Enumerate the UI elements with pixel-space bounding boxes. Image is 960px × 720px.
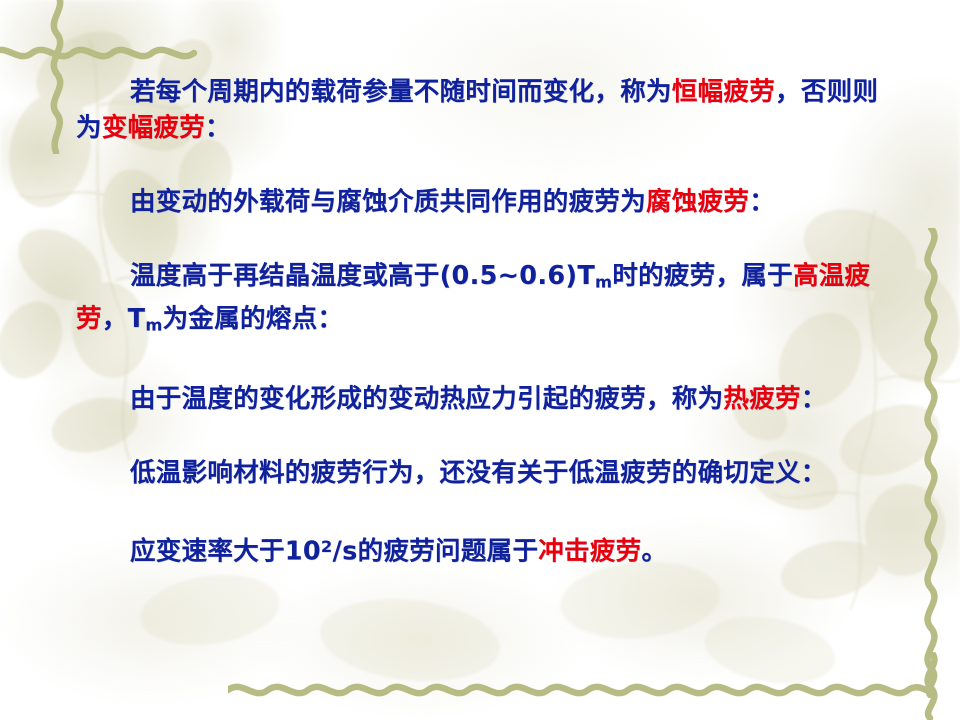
superscript-2: 2: [321, 537, 333, 556]
text-segment: 由于温度的变化形成的变动热应力引起的疲劳，称为: [130, 384, 723, 414]
text-segment: /s的疲劳问题属于: [333, 537, 539, 567]
paragraph-constant-amplitude-fatigue: 若每个周期内的载荷参量不随时间而变化，称为恒幅疲劳，否则则为变幅疲劳：: [76, 74, 904, 146]
decoration-right-vertical-rule: [916, 228, 946, 698]
text-segment: 温度高于再结晶温度或高于(0.5~0.6)T: [130, 261, 595, 291]
text-segment: ：: [801, 384, 827, 414]
slide-canvas: 若每个周期内的载荷参量不随时间而变化，称为恒幅疲劳，否则则为变幅疲劳： 由变动的…: [0, 0, 960, 720]
decoration-top-left-vertical: [42, 0, 72, 154]
paragraph-low-temperature-fatigue: 低温影响材料的疲劳行为，还没有关于低温疲劳的确切定义：: [76, 455, 904, 491]
decoration-bottom-horizontal-rule: [228, 675, 928, 705]
slide-body: 若每个周期内的载荷参量不随时间而变化，称为恒幅疲劳，否则则为变幅疲劳： 由变动的…: [76, 74, 904, 570]
text-segment: 。: [641, 537, 667, 567]
subscript-m: m: [595, 273, 612, 292]
decoration-top-horizontal-rule: [0, 38, 202, 68]
text-segment: 若每个周期内的载荷参量不随时间而变化，称为: [130, 77, 672, 107]
highlight-corrosion-fatigue: 腐蚀疲劳: [646, 187, 749, 217]
text-segment: ：: [205, 113, 231, 143]
subscript-m: m: [145, 315, 162, 334]
text-segment: 由变动的外载荷与腐蚀介质共同作用的疲劳为: [130, 187, 646, 217]
highlight-variable-amplitude-fatigue: 变幅疲劳: [102, 113, 205, 143]
text-segment: 应变速率大于10: [130, 537, 321, 567]
text-segment: 低温影响材料的疲劳行为，还没有关于低温疲劳的确切定义：: [130, 458, 827, 488]
text-segment: ，T: [102, 304, 146, 334]
paragraph-high-temperature-fatigue: 温度高于再结晶温度或高于(0.5~0.6)Tm时的疲劳，属于高温疲劳，Tm为金属…: [76, 258, 904, 343]
text-segment: 时的疲劳，属于: [612, 261, 793, 291]
paragraph-thermal-fatigue: 由于温度的变化形成的变动热应力引起的疲劳，称为热疲劳：: [76, 381, 904, 417]
text-segment: ：: [749, 187, 775, 217]
text-segment: 为金属的熔点：: [163, 304, 344, 334]
highlight-impact-fatigue: 冲击疲劳: [538, 537, 641, 567]
highlight-thermal-fatigue: 热疲劳: [723, 384, 800, 414]
paragraph-corrosion-fatigue: 由变动的外载荷与腐蚀介质共同作用的疲劳为腐蚀疲劳：: [76, 184, 904, 220]
highlight-constant-amplitude-fatigue: 恒幅疲劳: [672, 77, 775, 107]
decoration-bottom-right-cross: [916, 652, 946, 720]
paragraph-impact-fatigue: 应变速率大于102/s的疲劳问题属于冲击疲劳。: [76, 529, 904, 569]
